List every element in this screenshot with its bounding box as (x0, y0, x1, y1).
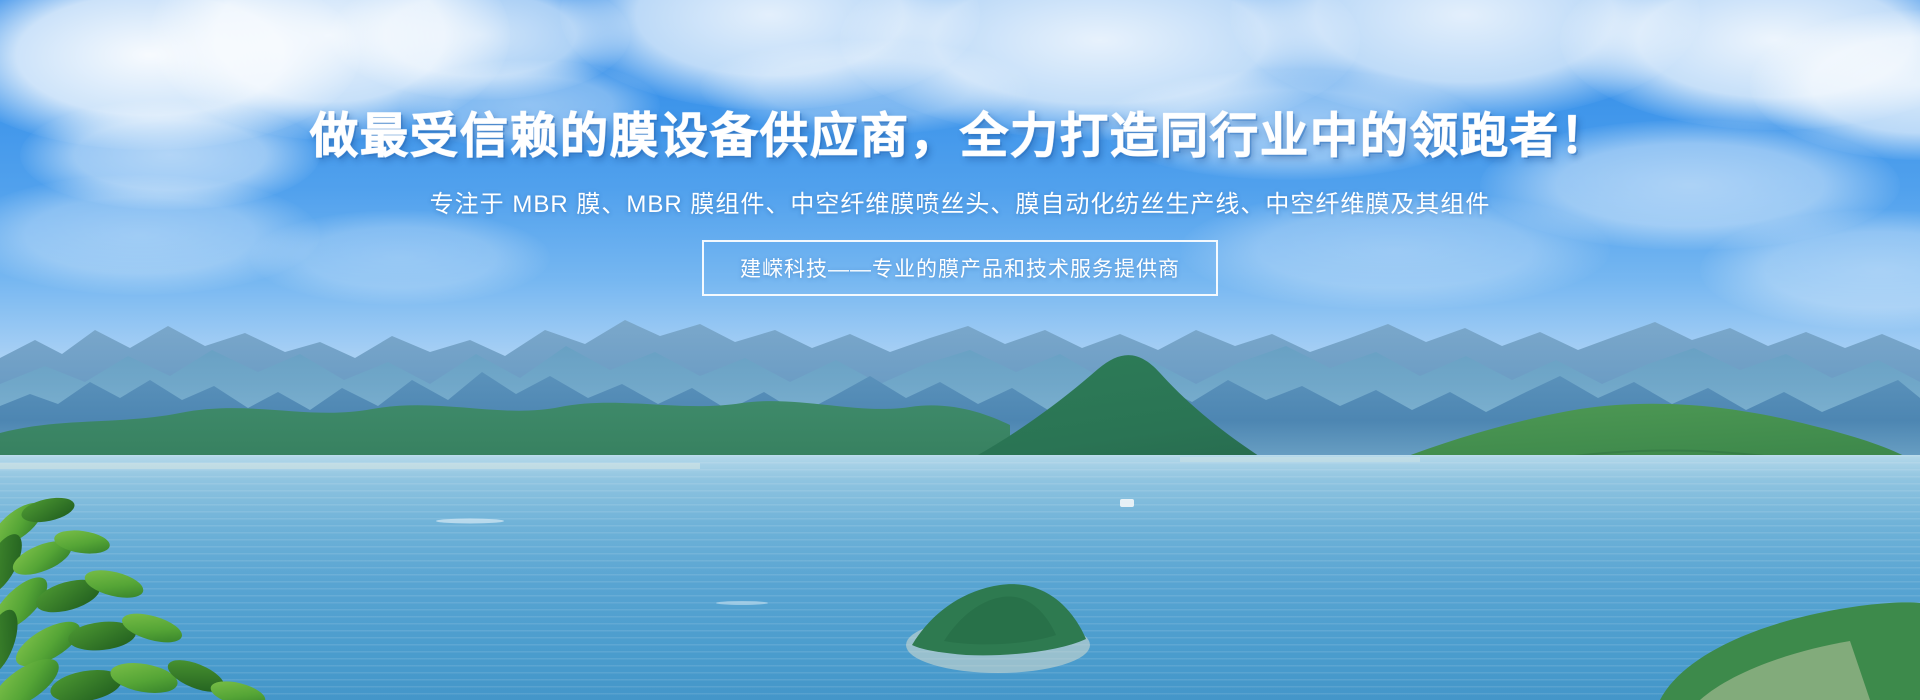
banner-tagline-wrapper: 建嵘科技——专业的膜产品和技术服务提供商 (0, 240, 1920, 296)
banner-tagline: 建嵘科技——专业的膜产品和技术服务提供商 (702, 240, 1218, 296)
hero-banner: 做最受信赖的膜设备供应商，全力打造同行业中的领跑者！ 专注于 MBR 膜、MBR… (0, 0, 1920, 700)
banner-headline: 做最受信赖的膜设备供应商，全力打造同行业中的领跑者！ (0, 96, 1920, 166)
banner-subheadline: 专注于 MBR 膜、MBR 膜组件、中空纤维膜喷丝头、膜自动化纺丝生产线、中空纤… (0, 184, 1920, 219)
banner-text-overlay: 做最受信赖的膜设备供应商，全力打造同行业中的领跑者！ 专注于 MBR 膜、MBR… (0, 0, 1920, 700)
